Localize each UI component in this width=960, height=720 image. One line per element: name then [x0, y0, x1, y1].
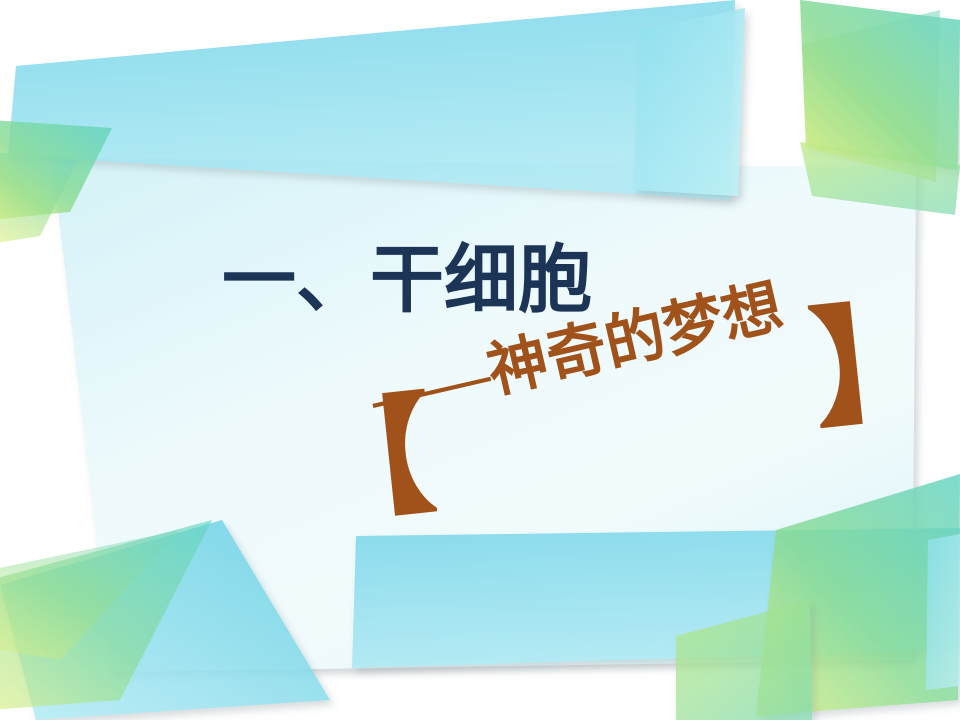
slide-text-layer: 一、干细胞 【 ——神奇的梦想 】 — [0, 0, 960, 720]
slide-canvas: 一、干细胞 【 ——神奇的梦想 】 — [0, 0, 960, 720]
page-title: 一、干细胞 — [222, 243, 592, 317]
bracket-right-icon: 】 — [806, 296, 947, 437]
